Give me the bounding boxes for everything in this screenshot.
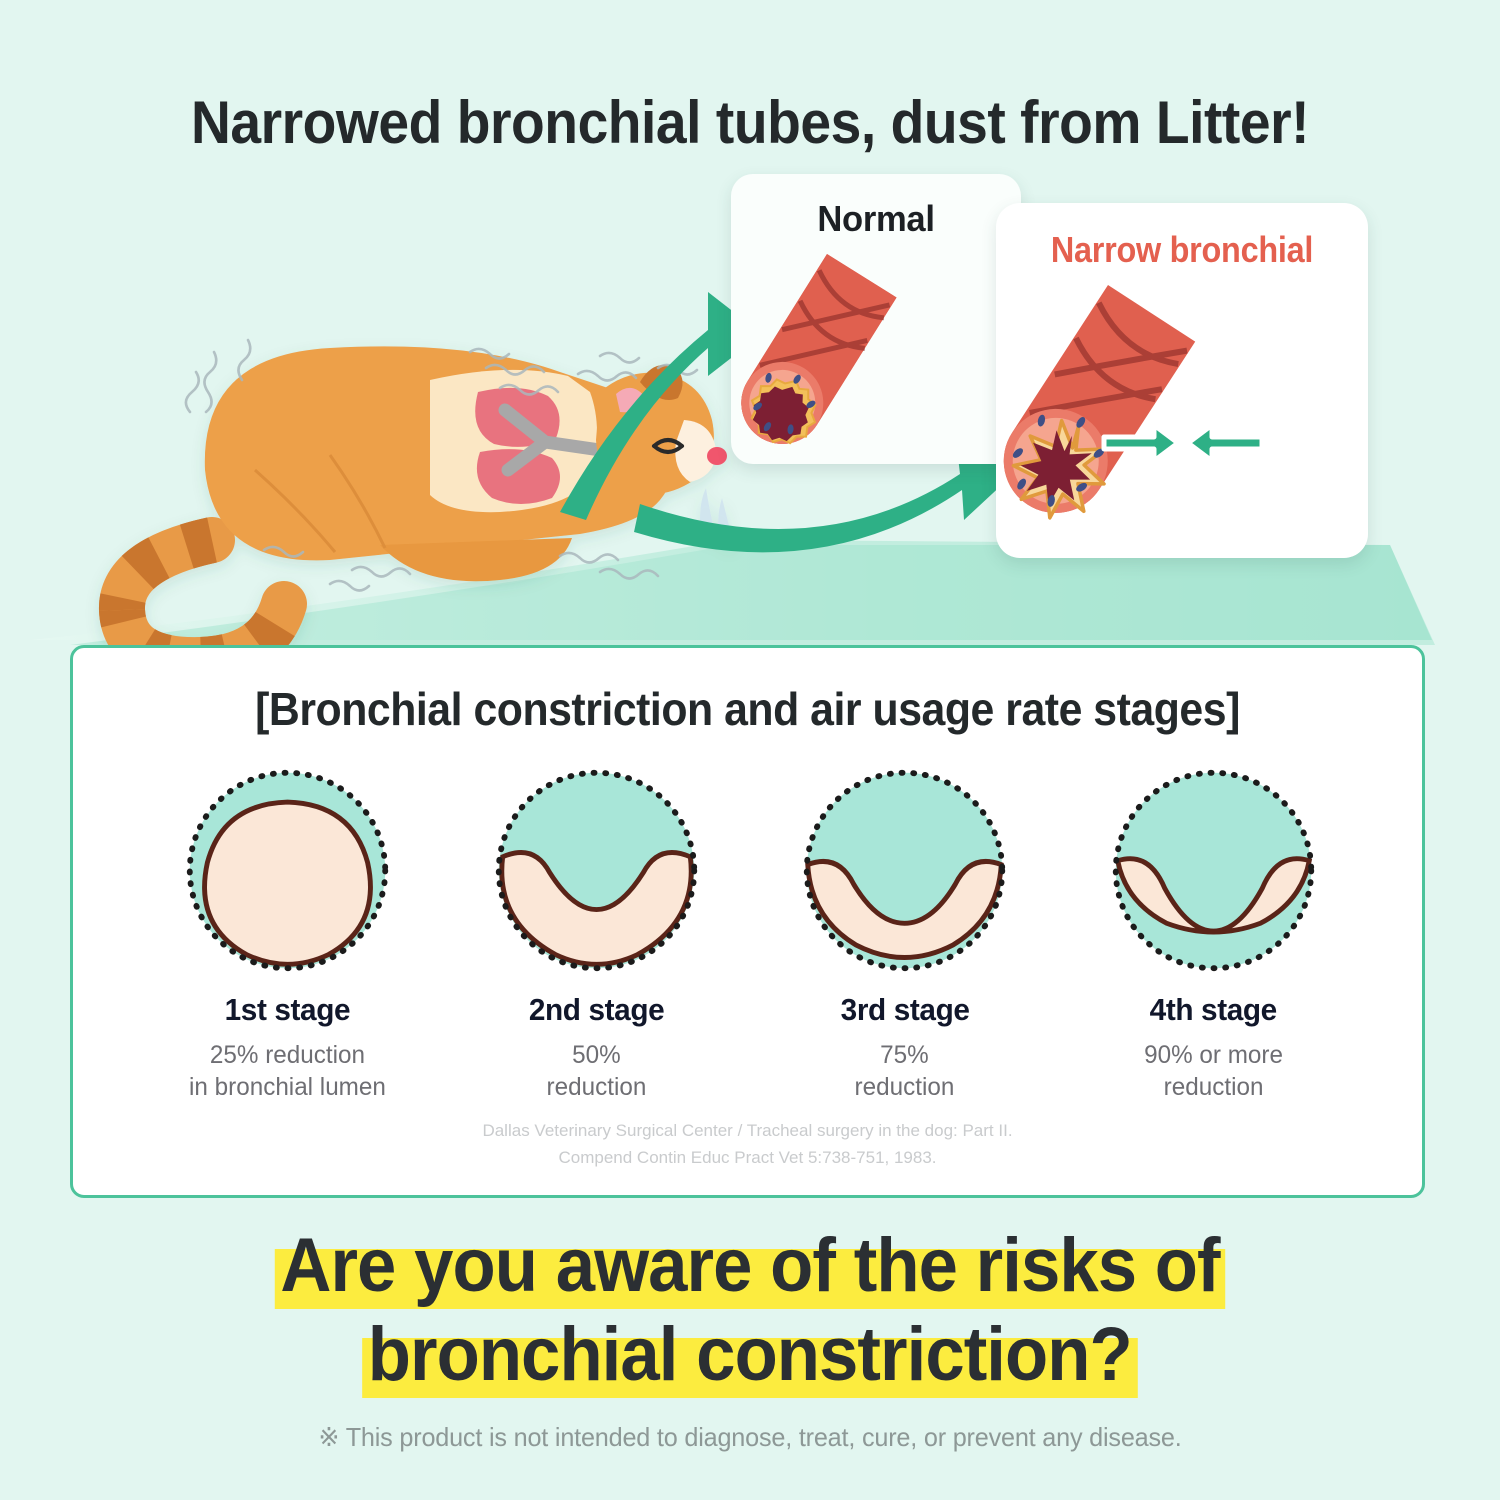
citation-text: Dallas Veterinary Surgical Center / Trac… <box>73 1118 1422 1171</box>
stage-2-name: 2nd stage <box>528 992 663 1028</box>
stages-card: [Bronchial constriction and air usage ra… <box>70 645 1425 1198</box>
headline-line-1-text: Are you aware of the risks of <box>275 1222 1225 1311</box>
stage-item-3: 3rd stage 75% reduction <box>751 763 1060 1143</box>
stage-3-name: 3rd stage <box>840 992 969 1028</box>
panel-narrow-label: Narrow bronchial <box>1015 229 1350 271</box>
stages-row: 1st stage 25% reduction in bronchial lum… <box>133 763 1368 1143</box>
stage-4-name: 4th stage <box>1150 992 1277 1028</box>
bronchial-tube-normal-icon <box>731 234 1021 464</box>
footer-headline: Are you aware of the risks of bronchial … <box>0 1222 1500 1400</box>
infographic-root: Narrowed bronchial tubes, dust from Litt… <box>0 0 1500 1500</box>
stage-1-name: 1st stage <box>225 992 351 1028</box>
stage-4-desc: 90% or more reduction <box>1144 1040 1283 1103</box>
panel-narrow: Narrow bronchial <box>996 203 1368 558</box>
stage-2-diagram <box>489 763 704 978</box>
stage-3-desc: 75% reduction <box>855 1040 955 1103</box>
bronchial-tube-constricted-icon <box>996 269 1368 554</box>
disclaimer-text: ※ This product is not intended to diagno… <box>23 1422 1478 1453</box>
headline-line-1: Are you aware of the risks of <box>0 1222 1500 1311</box>
stage-item-4: 4th stage 90% or more reduction <box>1059 763 1368 1143</box>
stage-2-desc: 50% reduction <box>546 1040 646 1103</box>
card-title: [Bronchial constriction and air usage ra… <box>120 682 1375 736</box>
panel-normal: Normal <box>731 174 1021 464</box>
page-title: Narrowed bronchial tubes, dust from Litt… <box>60 88 1440 157</box>
stage-1-desc: 25% reduction in bronchial lumen <box>189 1040 386 1103</box>
headline-line-2: bronchial constriction? <box>0 1311 1500 1400</box>
stage-item-1: 1st stage 25% reduction in bronchial lum… <box>133 763 442 1143</box>
stage-4-diagram <box>1106 763 1321 978</box>
stage-item-2: 2nd stage 50% reduction <box>442 763 751 1143</box>
stage-3-diagram <box>797 763 1012 978</box>
stage-1-diagram <box>180 763 395 978</box>
headline-line-2-text: bronchial constriction? <box>362 1311 1137 1400</box>
